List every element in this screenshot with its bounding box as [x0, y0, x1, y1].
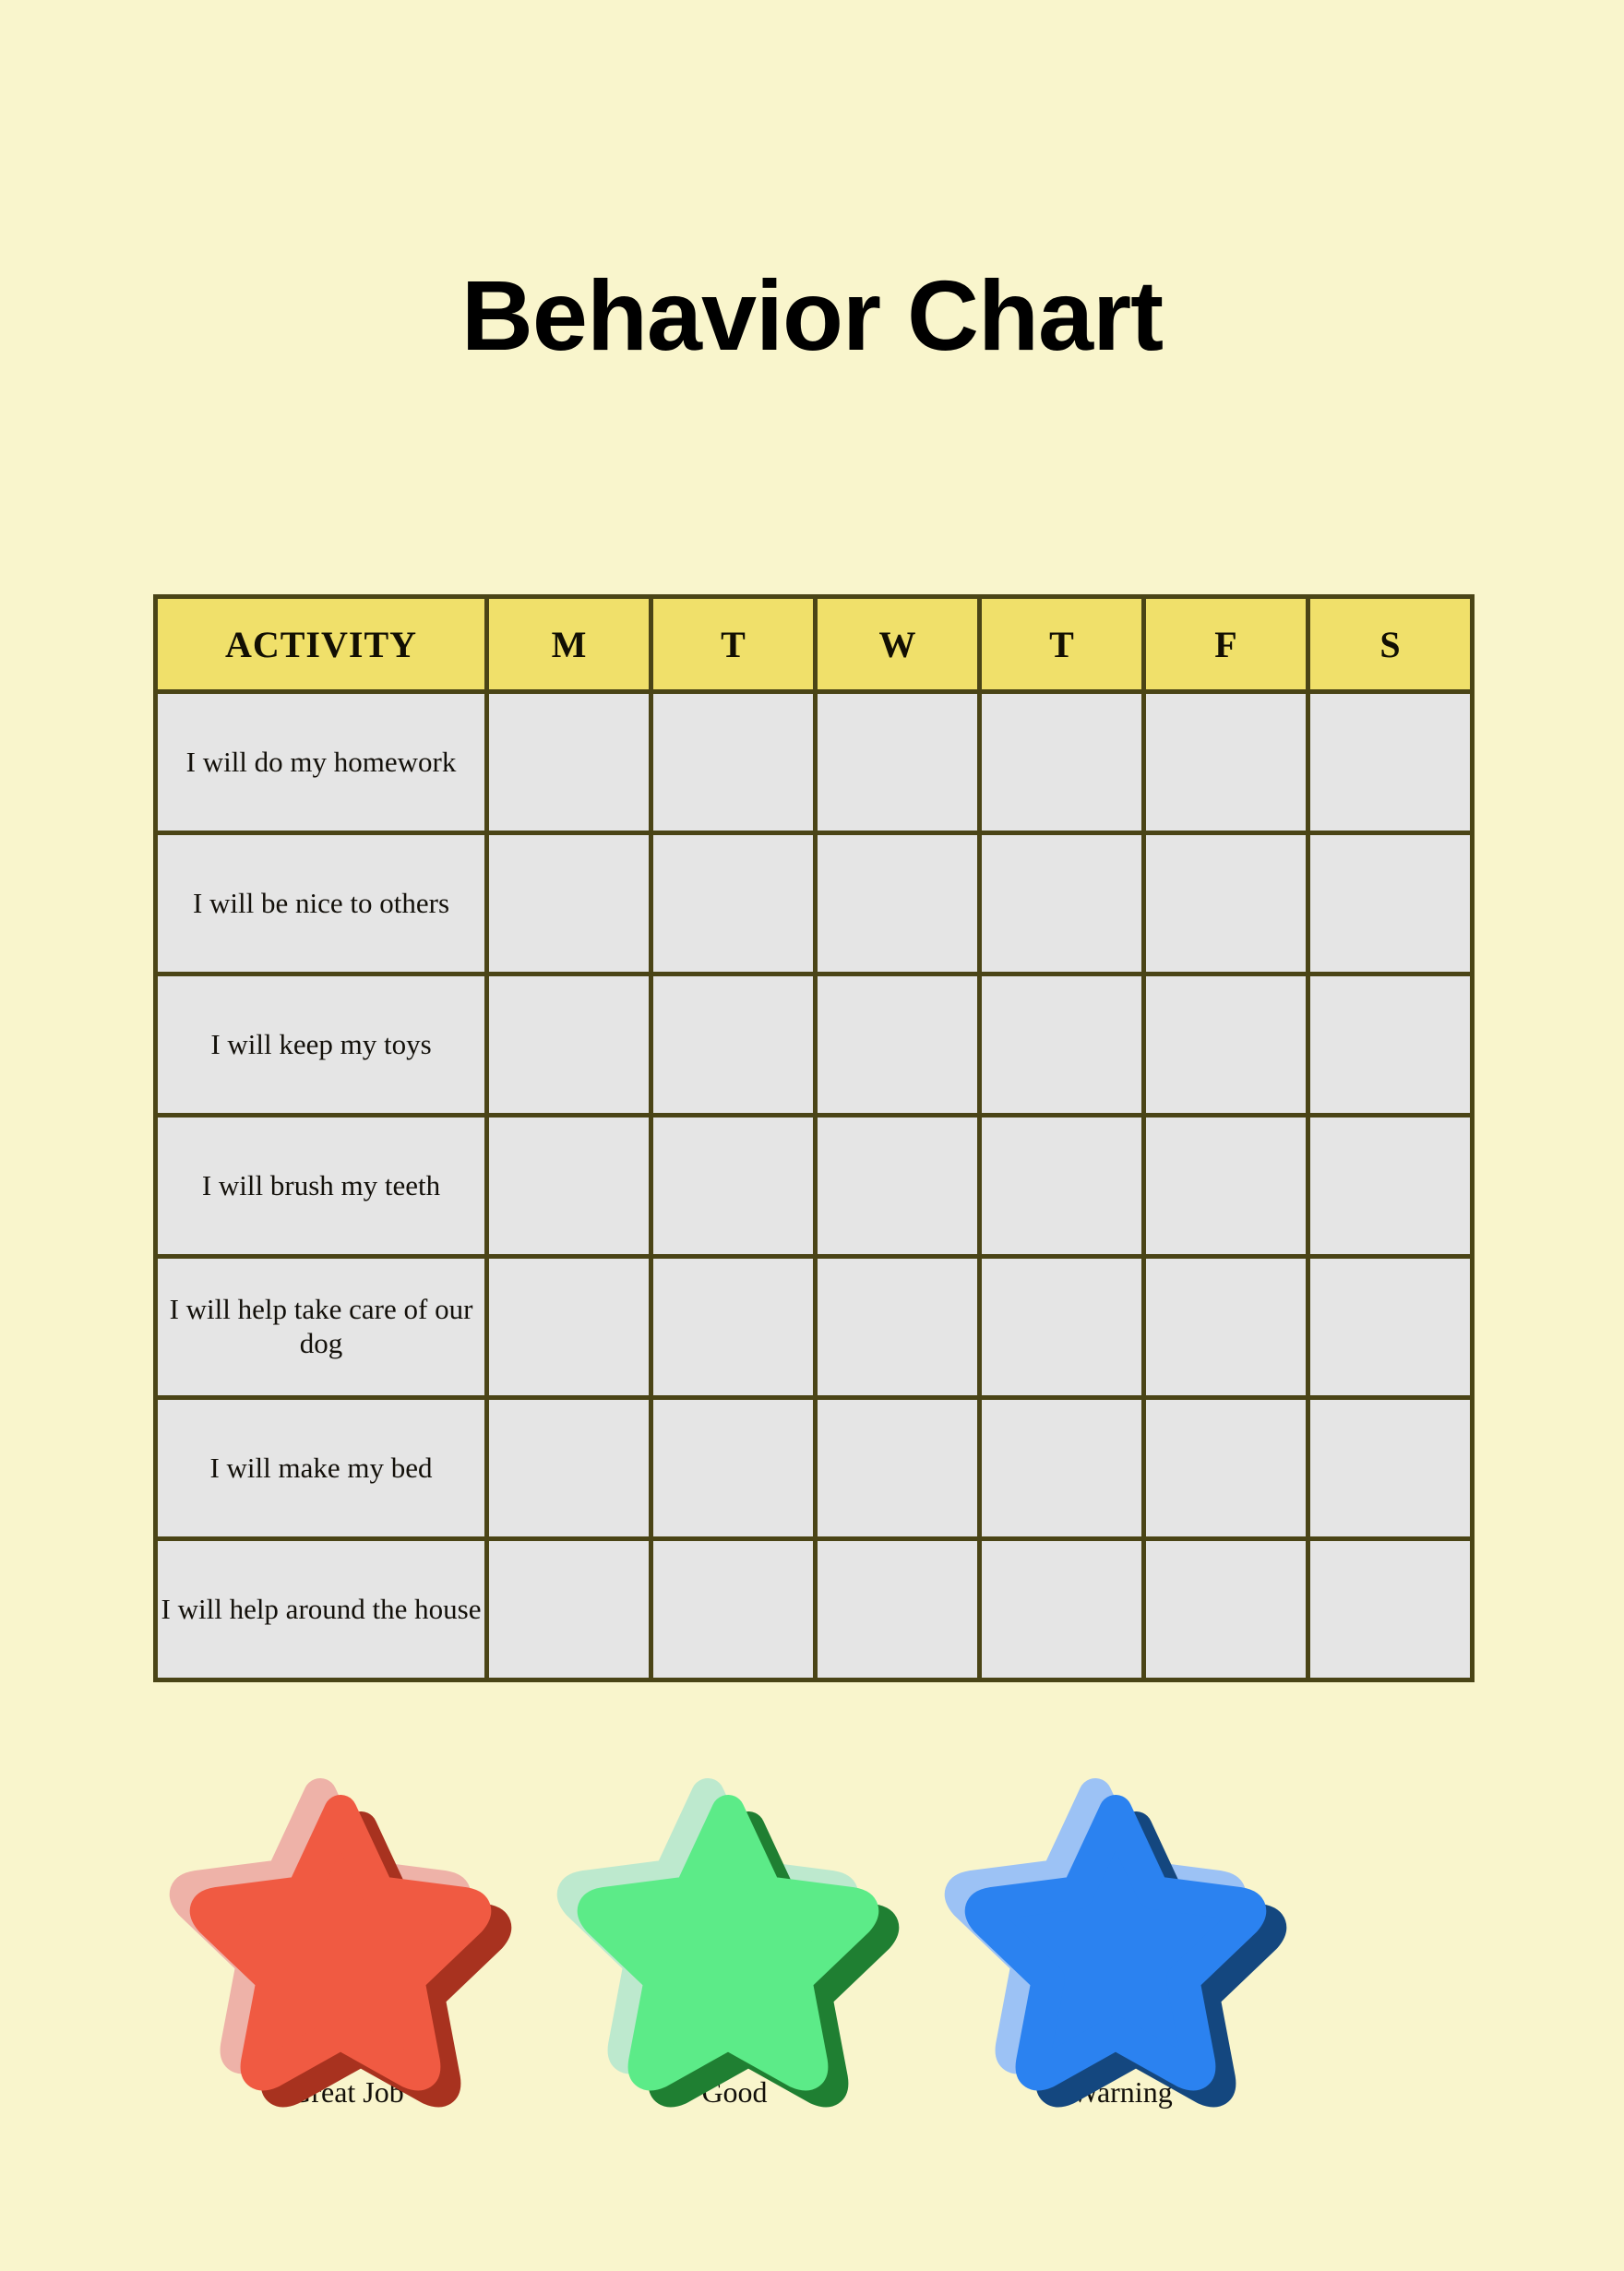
mark-cell-friday[interactable]	[1144, 974, 1308, 1116]
mark-cell-wednesday[interactable]	[816, 1398, 980, 1539]
legend-item-warning[interactable]: Warning	[928, 1795, 1316, 2110]
mark-cell-wednesday[interactable]	[816, 1539, 980, 1680]
mark-cell-saturday[interactable]	[1308, 1539, 1473, 1680]
mark-cell-thursday[interactable]	[980, 1539, 1144, 1680]
column-header-saturday: S	[1308, 597, 1473, 692]
legend-item-good[interactable]: Good	[541, 1795, 928, 2110]
header-row: ACTIVITY M T W T F S	[156, 597, 1473, 692]
mark-cell-saturday[interactable]	[1308, 1116, 1473, 1257]
table-body: I will do my homework I will be nice to …	[156, 692, 1473, 1680]
mark-cell-friday[interactable]	[1144, 833, 1308, 974]
mark-cell-wednesday[interactable]	[816, 1257, 980, 1398]
legend: Great Job Good	[153, 1795, 1472, 2110]
column-header-monday: M	[487, 597, 651, 692]
table-row: I will help take care of our dog	[156, 1257, 1473, 1398]
column-header-activity: ACTIVITY	[156, 597, 487, 692]
mark-cell-tuesday[interactable]	[651, 833, 816, 974]
mark-cell-monday[interactable]	[487, 1539, 651, 1680]
mark-cell-friday[interactable]	[1144, 1116, 1308, 1257]
mark-cell-friday[interactable]	[1144, 692, 1308, 833]
mark-cell-friday[interactable]	[1144, 1398, 1308, 1539]
mark-cell-monday[interactable]	[487, 1116, 651, 1257]
mark-cell-saturday[interactable]	[1308, 833, 1473, 974]
mark-cell-wednesday[interactable]	[816, 1116, 980, 1257]
column-header-thursday: T	[980, 597, 1144, 692]
mark-cell-thursday[interactable]	[980, 833, 1144, 974]
mark-cell-saturday[interactable]	[1308, 1398, 1473, 1539]
activity-label: I will brush my teeth	[156, 1116, 487, 1257]
mark-cell-monday[interactable]	[487, 974, 651, 1116]
mark-cell-tuesday[interactable]	[651, 1257, 816, 1398]
mark-cell-wednesday[interactable]	[816, 974, 980, 1116]
table-row: I will help around the house	[156, 1539, 1473, 1680]
table-row: I will brush my teeth	[156, 1116, 1473, 1257]
mark-cell-monday[interactable]	[487, 1398, 651, 1539]
mark-cell-wednesday[interactable]	[816, 692, 980, 833]
column-header-friday: F	[1144, 597, 1308, 692]
mark-cell-monday[interactable]	[487, 833, 651, 974]
mark-cell-thursday[interactable]	[980, 974, 1144, 1116]
star-icon	[209, 1795, 485, 2062]
activity-label: I will do my homework	[156, 692, 487, 833]
mark-cell-tuesday[interactable]	[651, 1116, 816, 1257]
mark-cell-thursday[interactable]	[980, 1116, 1144, 1257]
star-icon	[984, 1795, 1260, 2062]
column-header-wednesday: W	[816, 597, 980, 692]
activity-label: I will be nice to others	[156, 833, 487, 974]
mark-cell-monday[interactable]	[487, 1257, 651, 1398]
mark-cell-thursday[interactable]	[980, 1398, 1144, 1539]
table-row: I will keep my toys	[156, 974, 1473, 1116]
table-row: I will be nice to others	[156, 833, 1473, 974]
mark-cell-tuesday[interactable]	[651, 1539, 816, 1680]
mark-cell-tuesday[interactable]	[651, 974, 816, 1116]
mark-cell-tuesday[interactable]	[651, 1398, 816, 1539]
mark-cell-saturday[interactable]	[1308, 1257, 1473, 1398]
table-row: I will do my homework	[156, 692, 1473, 833]
mark-cell-thursday[interactable]	[980, 1257, 1144, 1398]
star-icon	[596, 1795, 873, 2062]
mark-cell-saturday[interactable]	[1308, 974, 1473, 1116]
behavior-chart-table-wrapper: ACTIVITY M T W T F S I will do my homewo…	[153, 594, 1472, 1682]
mark-cell-friday[interactable]	[1144, 1539, 1308, 1680]
mark-cell-tuesday[interactable]	[651, 692, 816, 833]
activity-label: I will help around the house	[156, 1539, 487, 1680]
behavior-chart-table: ACTIVITY M T W T F S I will do my homewo…	[153, 594, 1475, 1682]
mark-cell-monday[interactable]	[487, 692, 651, 833]
table-row: I will make my bed	[156, 1398, 1473, 1539]
mark-cell-friday[interactable]	[1144, 1257, 1308, 1398]
column-header-tuesday: T	[651, 597, 816, 692]
star-main-layer	[982, 1811, 1250, 2074]
activity-label: I will keep my toys	[156, 974, 487, 1116]
page-title: Behavior Chart	[0, 266, 1624, 365]
table-header: ACTIVITY M T W T F S	[156, 597, 1473, 692]
activity-label: I will help take care of our dog	[156, 1257, 487, 1398]
mark-cell-thursday[interactable]	[980, 692, 1144, 833]
star-main-layer	[207, 1811, 475, 2074]
mark-cell-saturday[interactable]	[1308, 692, 1473, 833]
legend-item-great-job[interactable]: Great Job	[153, 1795, 541, 2110]
mark-cell-wednesday[interactable]	[816, 833, 980, 974]
activity-label: I will make my bed	[156, 1398, 487, 1539]
star-main-layer	[594, 1811, 863, 2074]
